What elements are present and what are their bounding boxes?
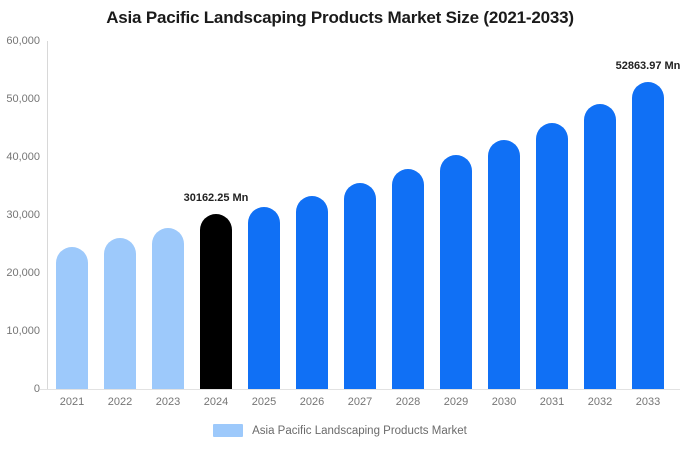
x-axis-tick-label-2030: 2030: [492, 396, 516, 408]
x-axis-tick-label-2033: 2033: [636, 396, 660, 408]
bar-2023[interactable]: [152, 228, 184, 389]
legend-label[interactable]: Asia Pacific Landscaping Products Market: [252, 425, 467, 437]
bar-2030[interactable]: [488, 140, 520, 389]
bar-value-label-2024: 30162.25 Mn: [184, 192, 249, 204]
bar-2026[interactable]: [296, 196, 328, 389]
x-axis-tick-label-2023: 2023: [156, 396, 180, 408]
x-axis-tick-label-2026: 2026: [300, 396, 324, 408]
chart-container: Asia Pacific Landscaping Products Market…: [0, 0, 680, 450]
bar-2024[interactable]: [200, 214, 232, 389]
x-axis-tick-label-2025: 2025: [252, 396, 276, 408]
x-axis-tick-label-2031: 2031: [540, 396, 564, 408]
bar-2032[interactable]: [584, 104, 616, 389]
bar-value-label-2033: 52863.97 Mn: [616, 60, 680, 72]
y-axis-tick-label: 20,000: [0, 267, 40, 279]
y-axis-tick-label: 60,000: [0, 35, 40, 47]
x-axis-tick-label-2027: 2027: [348, 396, 372, 408]
chart-legend: Asia Pacific Landscaping Products Market: [0, 424, 680, 437]
bar-2029[interactable]: [440, 155, 472, 389]
x-axis-tick-label-2024: 2024: [204, 396, 228, 408]
x-axis-tick-label-2022: 2022: [108, 396, 132, 408]
y-axis-tick-label: 50,000: [0, 93, 40, 105]
x-axis-line: [40, 389, 680, 390]
y-axis-tick-label: 30,000: [0, 209, 40, 221]
bar-2028[interactable]: [392, 169, 424, 389]
y-axis-tick-label: 10,000: [0, 325, 40, 337]
plot-area: [48, 41, 672, 389]
bar-2021[interactable]: [56, 247, 88, 389]
bar-2033[interactable]: [632, 82, 664, 389]
y-axis-tick-label: 40,000: [0, 151, 40, 163]
chart-title: Asia Pacific Landscaping Products Market…: [0, 8, 680, 28]
legend-swatch: [213, 424, 243, 437]
x-axis-tick-label-2029: 2029: [444, 396, 468, 408]
y-axis-tick-label: 0: [0, 383, 40, 395]
x-axis-tick-label-2028: 2028: [396, 396, 420, 408]
bar-2022[interactable]: [104, 238, 136, 389]
bar-2025[interactable]: [248, 207, 280, 389]
bar-2027[interactable]: [344, 183, 376, 389]
y-axis-labels: 60,00050,00040,00030,00020,00010,0000: [0, 0, 40, 450]
x-axis-tick-label-2032: 2032: [588, 396, 612, 408]
bar-2031[interactable]: [536, 123, 568, 389]
x-axis-tick-label-2021: 2021: [60, 396, 84, 408]
